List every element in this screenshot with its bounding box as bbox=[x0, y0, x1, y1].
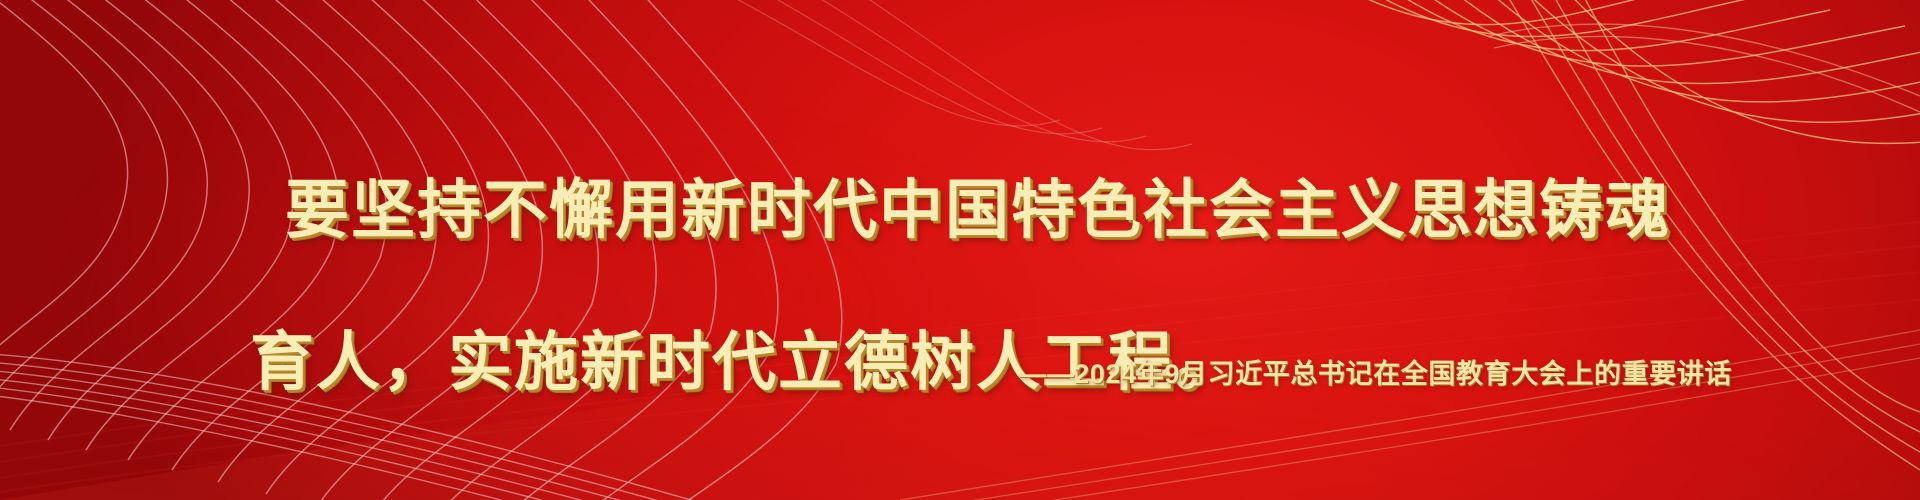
banner-attribution: ——2024年9月习近平总书记在全国教育大会上的重要讲话 bbox=[1019, 352, 1732, 391]
banner-headline: 要坚持不懈用新时代中国特色社会主义思想铸魂 育人，实施新时代立德树人工程。 bbox=[0, 96, 1920, 476]
red-propaganda-banner: 要坚持不懈用新时代中国特色社会主义思想铸魂 育人，实施新时代立德树人工程。 ——… bbox=[0, 0, 1920, 500]
banner-content: 要坚持不懈用新时代中国特色社会主义思想铸魂 育人，实施新时代立德树人工程。 ——… bbox=[0, 0, 1920, 500]
headline-line-1: 要坚持不懈用新时代中国特色社会主义思想铸魂 bbox=[60, 172, 1860, 248]
